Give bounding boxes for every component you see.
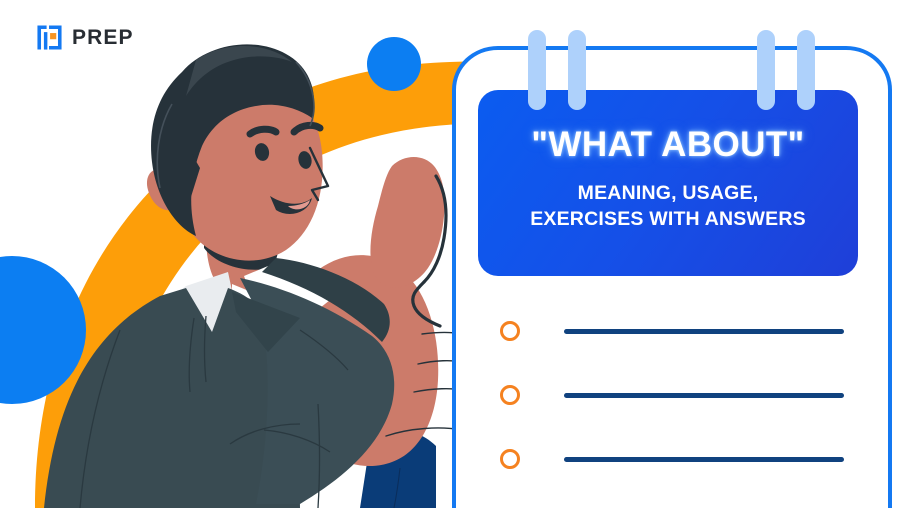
checklist-line — [564, 457, 844, 462]
checklist — [500, 320, 860, 470]
checklist-item-2 — [500, 384, 860, 406]
empty-circle-icon — [500, 449, 520, 469]
brand-name: PREP — [72, 27, 134, 48]
thumbnail-canvas: "WHAT ABOUT" MEANING, USAGE, EXERCISES W… — [0, 0, 904, 508]
prep-bracket-logo-icon — [36, 24, 63, 51]
empty-circle-icon — [500, 321, 520, 341]
empty-circle-icon — [500, 385, 520, 405]
checklist-line — [564, 329, 844, 334]
page-subtitle-line-2: EXERCISES WITH ANSWERS — [530, 207, 806, 233]
brand-logo[interactable]: PREP — [36, 24, 134, 51]
checklist-item-3 — [500, 448, 860, 470]
checklist-item-1 — [500, 320, 860, 342]
page-subtitle-line-1: MEANING, USAGE, — [578, 181, 759, 207]
page-title: "WHAT ABOUT" — [531, 127, 804, 164]
checklist-line — [564, 393, 844, 398]
title-card: "WHAT ABOUT" MEANING, USAGE, EXERCISES W… — [478, 90, 858, 276]
